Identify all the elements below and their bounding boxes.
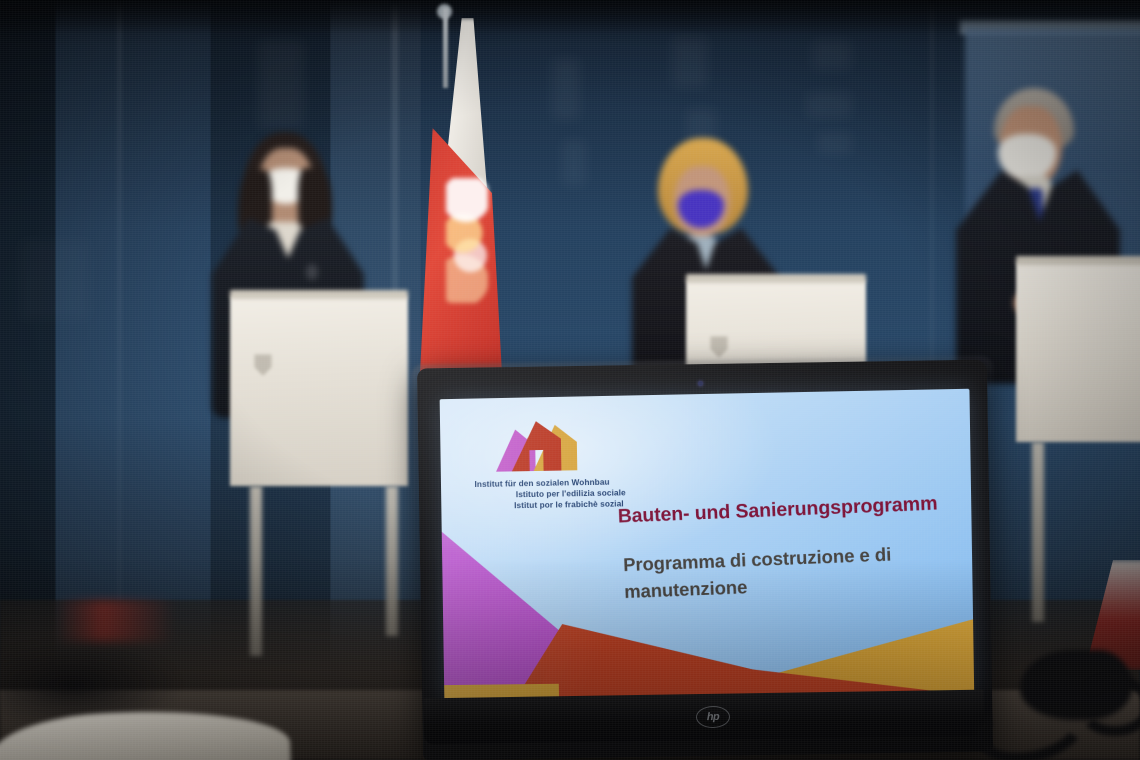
backdrop-ghost-mark xyxy=(806,92,852,118)
backdrop-ghost-mark xyxy=(552,58,580,120)
backdrop-ghost-mark xyxy=(818,132,852,154)
laptop[interactable]: Institut für den sozialen Wohnbau Istitu… xyxy=(404,356,999,760)
podium-top-edge xyxy=(230,290,408,299)
slide-title-de: Bauten- und Sanierungsprogramm xyxy=(617,491,959,529)
shield-emblem xyxy=(254,354,272,376)
podium-right xyxy=(1016,262,1140,442)
podium-leg xyxy=(386,486,398,636)
hp-logo-icon: hp xyxy=(696,706,730,729)
flagpole xyxy=(443,8,448,88)
laptop-screen[interactable]: Institut für den sozialen Wohnbau Istitu… xyxy=(440,389,975,699)
backdrop-ghost-mark xyxy=(672,36,708,88)
backdrop-ghost-mark xyxy=(258,40,304,130)
presentation-slide: Institut für den sozialen Wohnbau Istitu… xyxy=(440,389,975,699)
podium-top-edge xyxy=(686,274,866,283)
podium-leg xyxy=(250,486,262,656)
flag-stand-left xyxy=(55,600,175,642)
institute-logo: Institut für den sozialen Wohnbau Istitu… xyxy=(474,417,654,512)
podium-left xyxy=(230,296,408,486)
backdrop-ghost-mark xyxy=(562,140,586,186)
backdrop-ghost-mark xyxy=(20,240,90,320)
ceiling-shadow xyxy=(0,0,1140,34)
slide-subtitle-it: Programma di costruzione e di manutenzio… xyxy=(623,538,946,605)
press-conference-photo: Institut für den sozialen Wohnbau Istitu… xyxy=(0,0,1140,760)
podium-leg xyxy=(1032,442,1044,622)
webcam-icon xyxy=(698,381,703,386)
backdrop-ghost-mark xyxy=(812,40,852,70)
shield-emblem xyxy=(710,336,728,358)
house-logo-icon xyxy=(495,418,579,471)
podium-top-edge xyxy=(1016,256,1140,265)
hp-logo-text: hp xyxy=(696,706,730,729)
south-tyrol-eagle-emblem xyxy=(446,178,488,303)
